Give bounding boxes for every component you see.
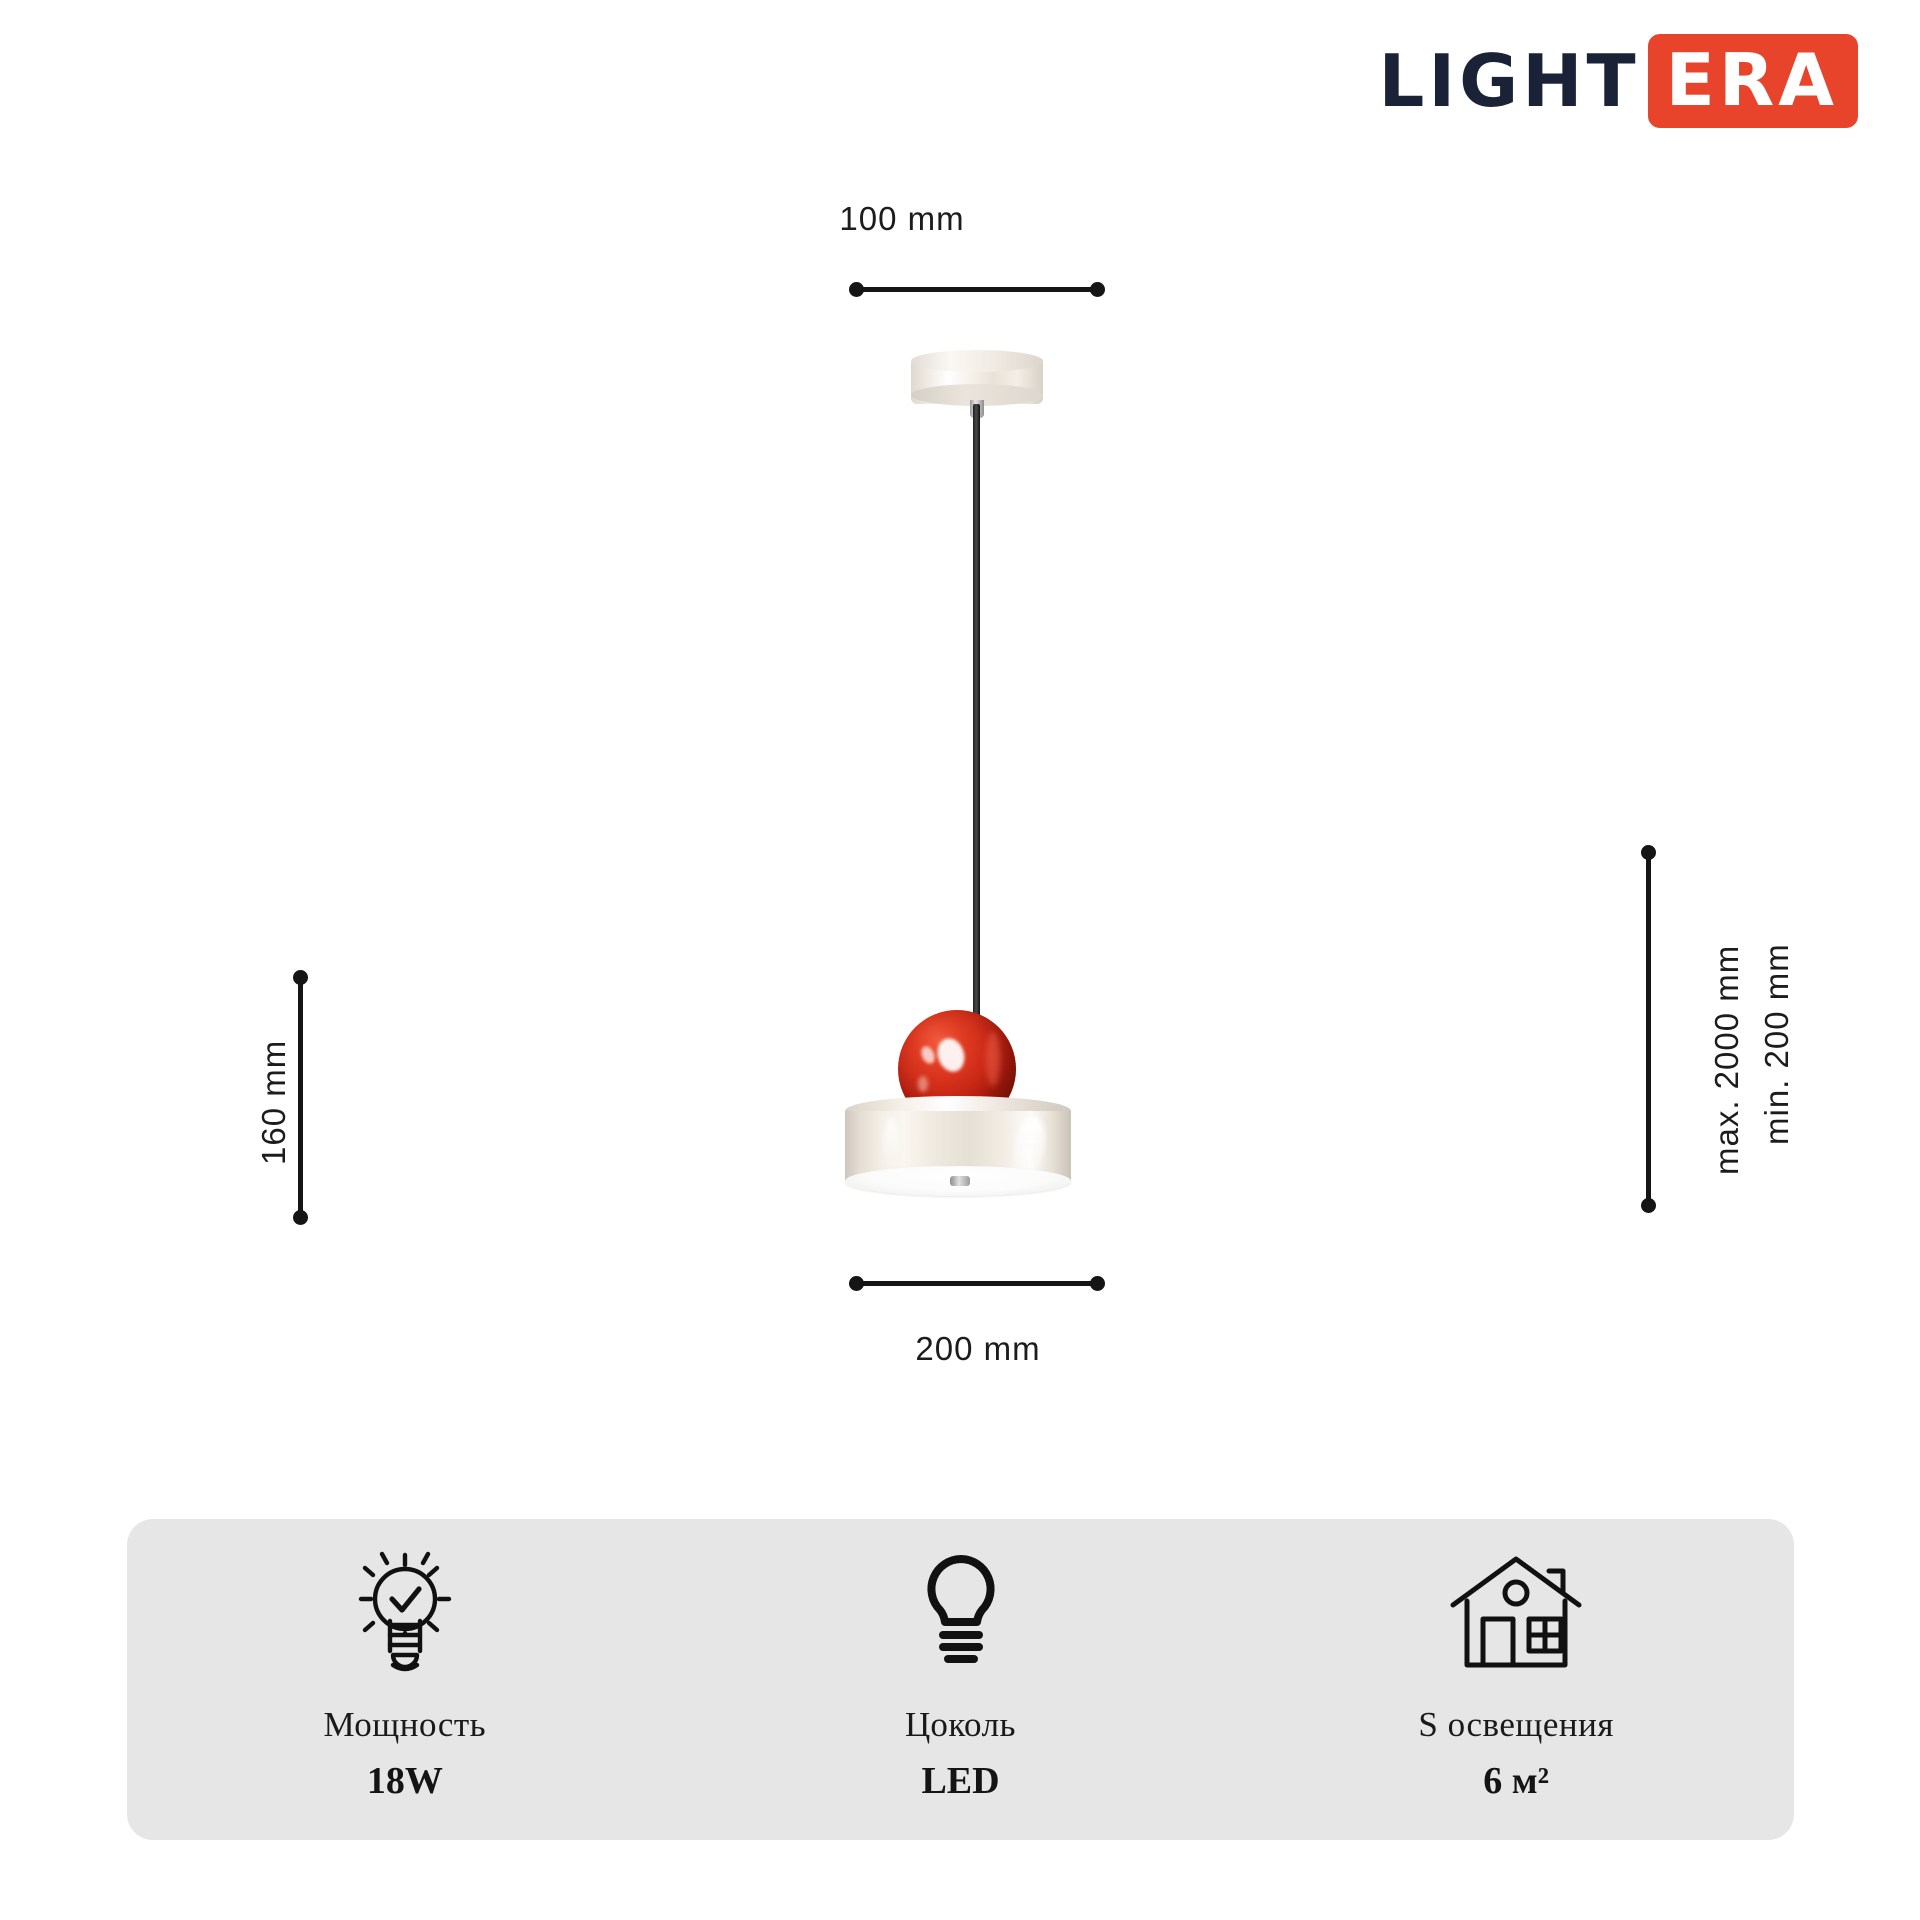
canopy-bottom-ellipse [911,384,1043,406]
brand-logo: LIGHT ERA [1379,38,1859,124]
ceiling-canopy [911,350,1043,412]
logo-era-box: ERA [1648,34,1858,128]
spec-cell-power: Мощность 18W [127,1519,683,1840]
dimension-dot-suspension-bottom [1641,1198,1656,1213]
bulb-icon [907,1547,1015,1679]
suspension-cable [973,404,980,1020]
dimension-dot-canopy-left [849,282,864,297]
shade-gloss-right [1012,1116,1048,1174]
canopy-body [911,360,1043,404]
dimension-label-suspension-min: min. 200 mm [1758,943,1796,1145]
dimension-line-shade-height [298,975,303,1218]
spec-value-area: 6 м² [1483,1759,1549,1803]
drum-shade [845,1096,1071,1202]
dimension-label-suspension-max: max. 2000 mm [1708,945,1746,1175]
dimension-dot-diameter-left [849,1276,864,1291]
dimension-line-shade-diameter [854,1281,1100,1286]
shade-center-screw [950,1176,970,1186]
dimension-dot-height-bottom [293,1210,308,1225]
spec-title-socket: Цоколь [905,1705,1016,1745]
dimension-line-canopy-width [854,287,1100,292]
dimension-label-shade-diameter: 200 mm [915,1330,1040,1368]
spec-title-area: S освещения [1418,1705,1614,1745]
shade-body [845,1111,1071,1181]
canopy-top-ellipse [911,350,1043,372]
dimension-label-shade-height: 160 mm [255,1040,293,1165]
dimension-dot-height-top [293,970,308,985]
spec-cell-socket: Цоколь LED [683,1519,1239,1840]
logo-text-era: ERA [1666,44,1838,116]
sphere-rim-light [986,1032,1000,1086]
logo-text-light: LIGHT [1379,45,1648,117]
spec-cell-area: S освещения 6 м² [1238,1519,1794,1840]
dimension-label-canopy-width: 100 mm [839,200,964,238]
shade-diffuser [845,1166,1071,1196]
sphere-highlight-primary [933,1035,968,1075]
canopy-cable-gland [970,400,984,418]
spec-value-power: 18W [367,1759,443,1803]
dimension-dot-diameter-right [1090,1276,1105,1291]
spec-value-socket: LED [921,1759,999,1803]
shade-gloss-left [883,1118,899,1168]
sphere-highlight-edge [918,1076,928,1092]
house-icon [1445,1547,1587,1679]
specifications-panel: Мощность 18W Цоколь LED [127,1519,1794,1840]
red-sphere-element [898,1010,1016,1128]
spec-title-power: Мощность [324,1705,487,1745]
dimension-dot-canopy-right [1090,282,1105,297]
shade-top-ellipse [845,1096,1071,1126]
dimension-dot-suspension-top [1641,845,1656,860]
bulb-check-icon [343,1547,467,1679]
dimension-line-suspension [1646,850,1651,1210]
sphere-highlight-secondary [919,1044,937,1065]
